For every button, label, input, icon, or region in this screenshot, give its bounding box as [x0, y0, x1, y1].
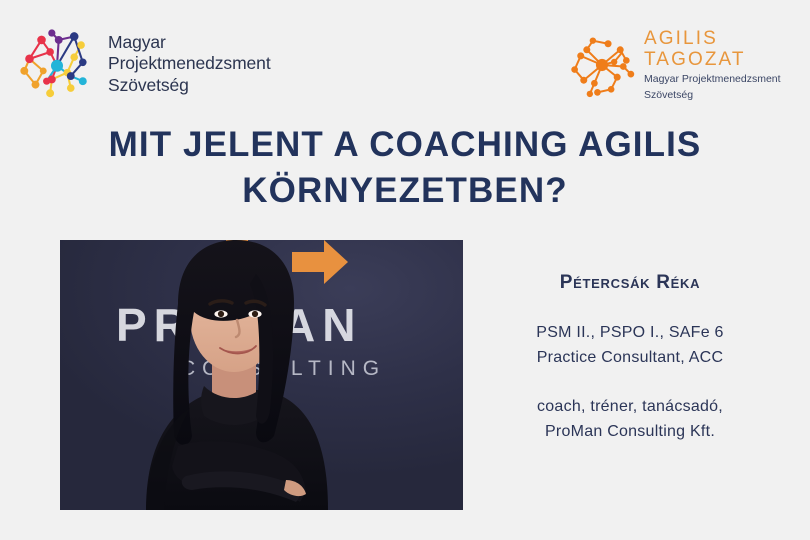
- speaker-role: coach, tréner, tanácsadó, ProMan Consult…: [470, 395, 790, 445]
- agilis-logo-text: AGILIS TAGOZAT Magyar Projektmenedzsment…: [644, 28, 781, 103]
- mpsz-line-3: Szövetség: [108, 75, 271, 96]
- presentation-slide: Magyar Projektmenedzsment Szövetség: [0, 0, 810, 540]
- mpsz-logo: Magyar Projektmenedzsment Szövetség: [14, 18, 304, 110]
- speaker-role-line-2: ProMan Consulting Kft.: [470, 420, 790, 445]
- slide-title: MIT JELENT A COACHING AGILIS KÖRNYEZETBE…: [40, 122, 770, 214]
- slide-title-line-1: MIT JELENT A COACHING AGILIS: [40, 122, 770, 168]
- mpsz-line-1: Magyar: [108, 32, 271, 53]
- agilis-tagozat-logo: AGILIS TAGOZAT Magyar Projektmenedzsment…: [564, 22, 802, 108]
- speaker-role-line-1: coach, tréner, tanácsadó,: [470, 395, 790, 420]
- mpsz-line-2: Projektmenedzsment: [108, 53, 271, 74]
- portrait-figure: [60, 240, 463, 510]
- speaker-name: Pétercsák Réka: [470, 272, 790, 295]
- agilis-head-2: TAGOZAT: [644, 49, 781, 70]
- agilis-head-1: AGILIS: [644, 28, 781, 49]
- slide-title-line-2: KÖRNYEZETBEN?: [40, 168, 770, 214]
- mpsz-network-mark: [14, 21, 100, 107]
- agilis-sub-1: Magyar Projektmenedzsment: [644, 73, 781, 86]
- agilis-sub-2: Szövetség: [644, 89, 781, 102]
- mpsz-logo-text: Magyar Projektmenedzsment Szövetség: [108, 32, 271, 96]
- speaker-credentials: PSM II., PSPO I., SAFe 6 Practice Consul…: [470, 321, 790, 371]
- speaker-credentials-line-2: Practice Consultant, ACC: [470, 346, 790, 371]
- agilis-network-mark: [564, 27, 640, 103]
- speaker-info: Pétercsák Réka PSM II., PSPO I., SAFe 6 …: [470, 272, 790, 445]
- speaker-credentials-line-1: PSM II., PSPO I., SAFe 6: [470, 321, 790, 346]
- speaker-photo: PROMAN CONSULTING: [60, 240, 463, 510]
